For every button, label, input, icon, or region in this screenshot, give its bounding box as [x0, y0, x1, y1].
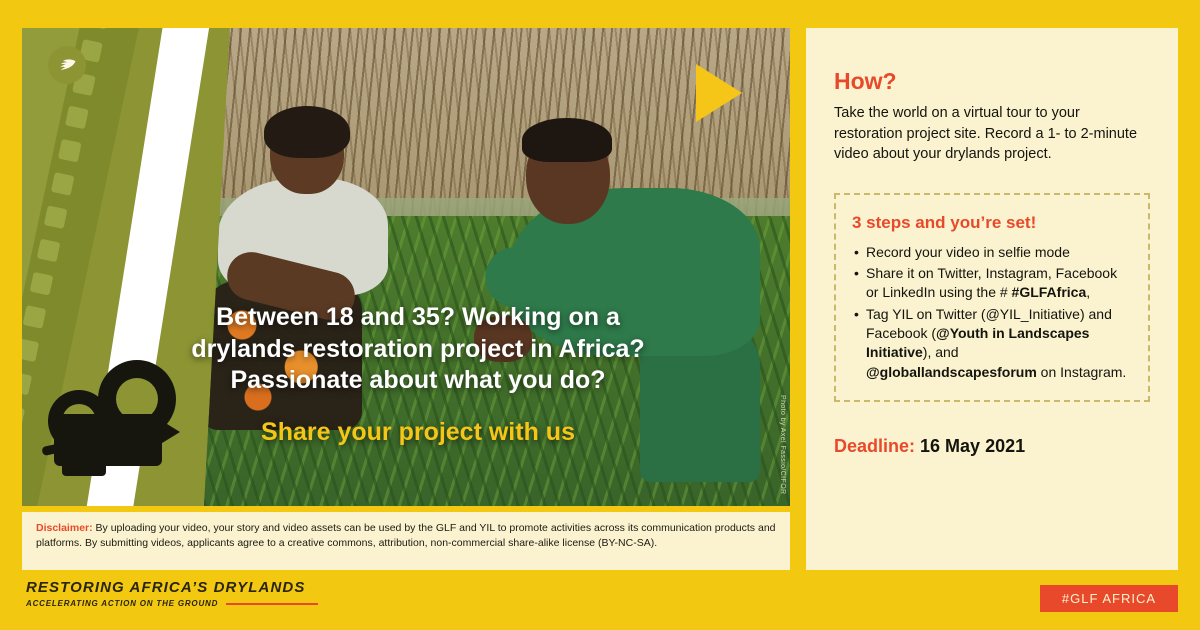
- steps-title: 3 steps and you’re set!: [852, 213, 1132, 233]
- play-triangle-icon[interactable]: [696, 64, 742, 122]
- step-text-mid: ), and: [923, 344, 959, 360]
- disclaimer-label: Disclaimer:: [36, 522, 93, 534]
- steps-box: 3 steps and you’re set! Record your vide…: [834, 193, 1150, 402]
- footer-rule: [226, 603, 318, 605]
- disclaimer-box: Disclaimer: By uploading your video, you…: [22, 512, 790, 570]
- step-text-tail: on Instagram.: [1037, 364, 1127, 380]
- step-text-tail: ,: [1086, 284, 1090, 300]
- deadline: Deadline: 16 May 2021: [834, 436, 1150, 457]
- footer-brand: RESTORING AFRICA’S DRYLANDS ACCELERATING…: [26, 579, 318, 608]
- headline-cta: Share your project with us: [82, 417, 754, 449]
- how-body: Take the world on a virtual tour to your…: [834, 103, 1150, 165]
- glf-africa-badge[interactable]: #GLF AFRICA: [1040, 585, 1178, 612]
- hero-card: Photo by Axel Fassio/CIFOR Between 18 an…: [22, 28, 790, 506]
- step-handle-instagram: @globallandscapesforum: [866, 364, 1037, 380]
- deadline-label: Deadline:: [834, 436, 915, 456]
- photo-credit: Photo by Axel Fassio/CIFOR: [779, 395, 786, 495]
- list-item: Share it on Twitter, Instagram, Facebook…: [866, 264, 1132, 303]
- headline-line-1: Between 18 and 35? Working on a: [216, 303, 620, 331]
- footer-brand-title: RESTORING AFRICA’S DRYLANDS: [26, 579, 318, 596]
- step-text: Record your video in selfie mode: [866, 244, 1070, 260]
- deadline-value: 16 May 2021: [915, 436, 1025, 456]
- step-hashtag: #GLFAfrica: [1012, 284, 1087, 300]
- headline-line-2: drylands restoration project in Africa?: [191, 335, 644, 363]
- steps-list: Record your video in selfie mode Share i…: [852, 243, 1132, 382]
- leaf-logo-icon: [48, 46, 86, 84]
- disclaimer-text: By uploading your video, your story and …: [36, 522, 776, 549]
- info-panel: How? Take the world on a virtual tour to…: [806, 28, 1178, 570]
- footer-brand-subtitle: ACCELERATING ACTION ON THE GROUND: [26, 599, 218, 608]
- headline-overlay: Between 18 and 35? Working on a drylands…: [82, 302, 754, 448]
- list-item: Record your video in selfie mode: [866, 243, 1132, 262]
- poster-canvas: Photo by Axel Fassio/CIFOR Between 18 an…: [0, 0, 1200, 630]
- list-item: Tag YIL on Twitter (@YIL_Initiative) and…: [866, 305, 1132, 382]
- how-title: How?: [834, 68, 1150, 95]
- headline-line-3: Passionate about what you do?: [230, 366, 605, 394]
